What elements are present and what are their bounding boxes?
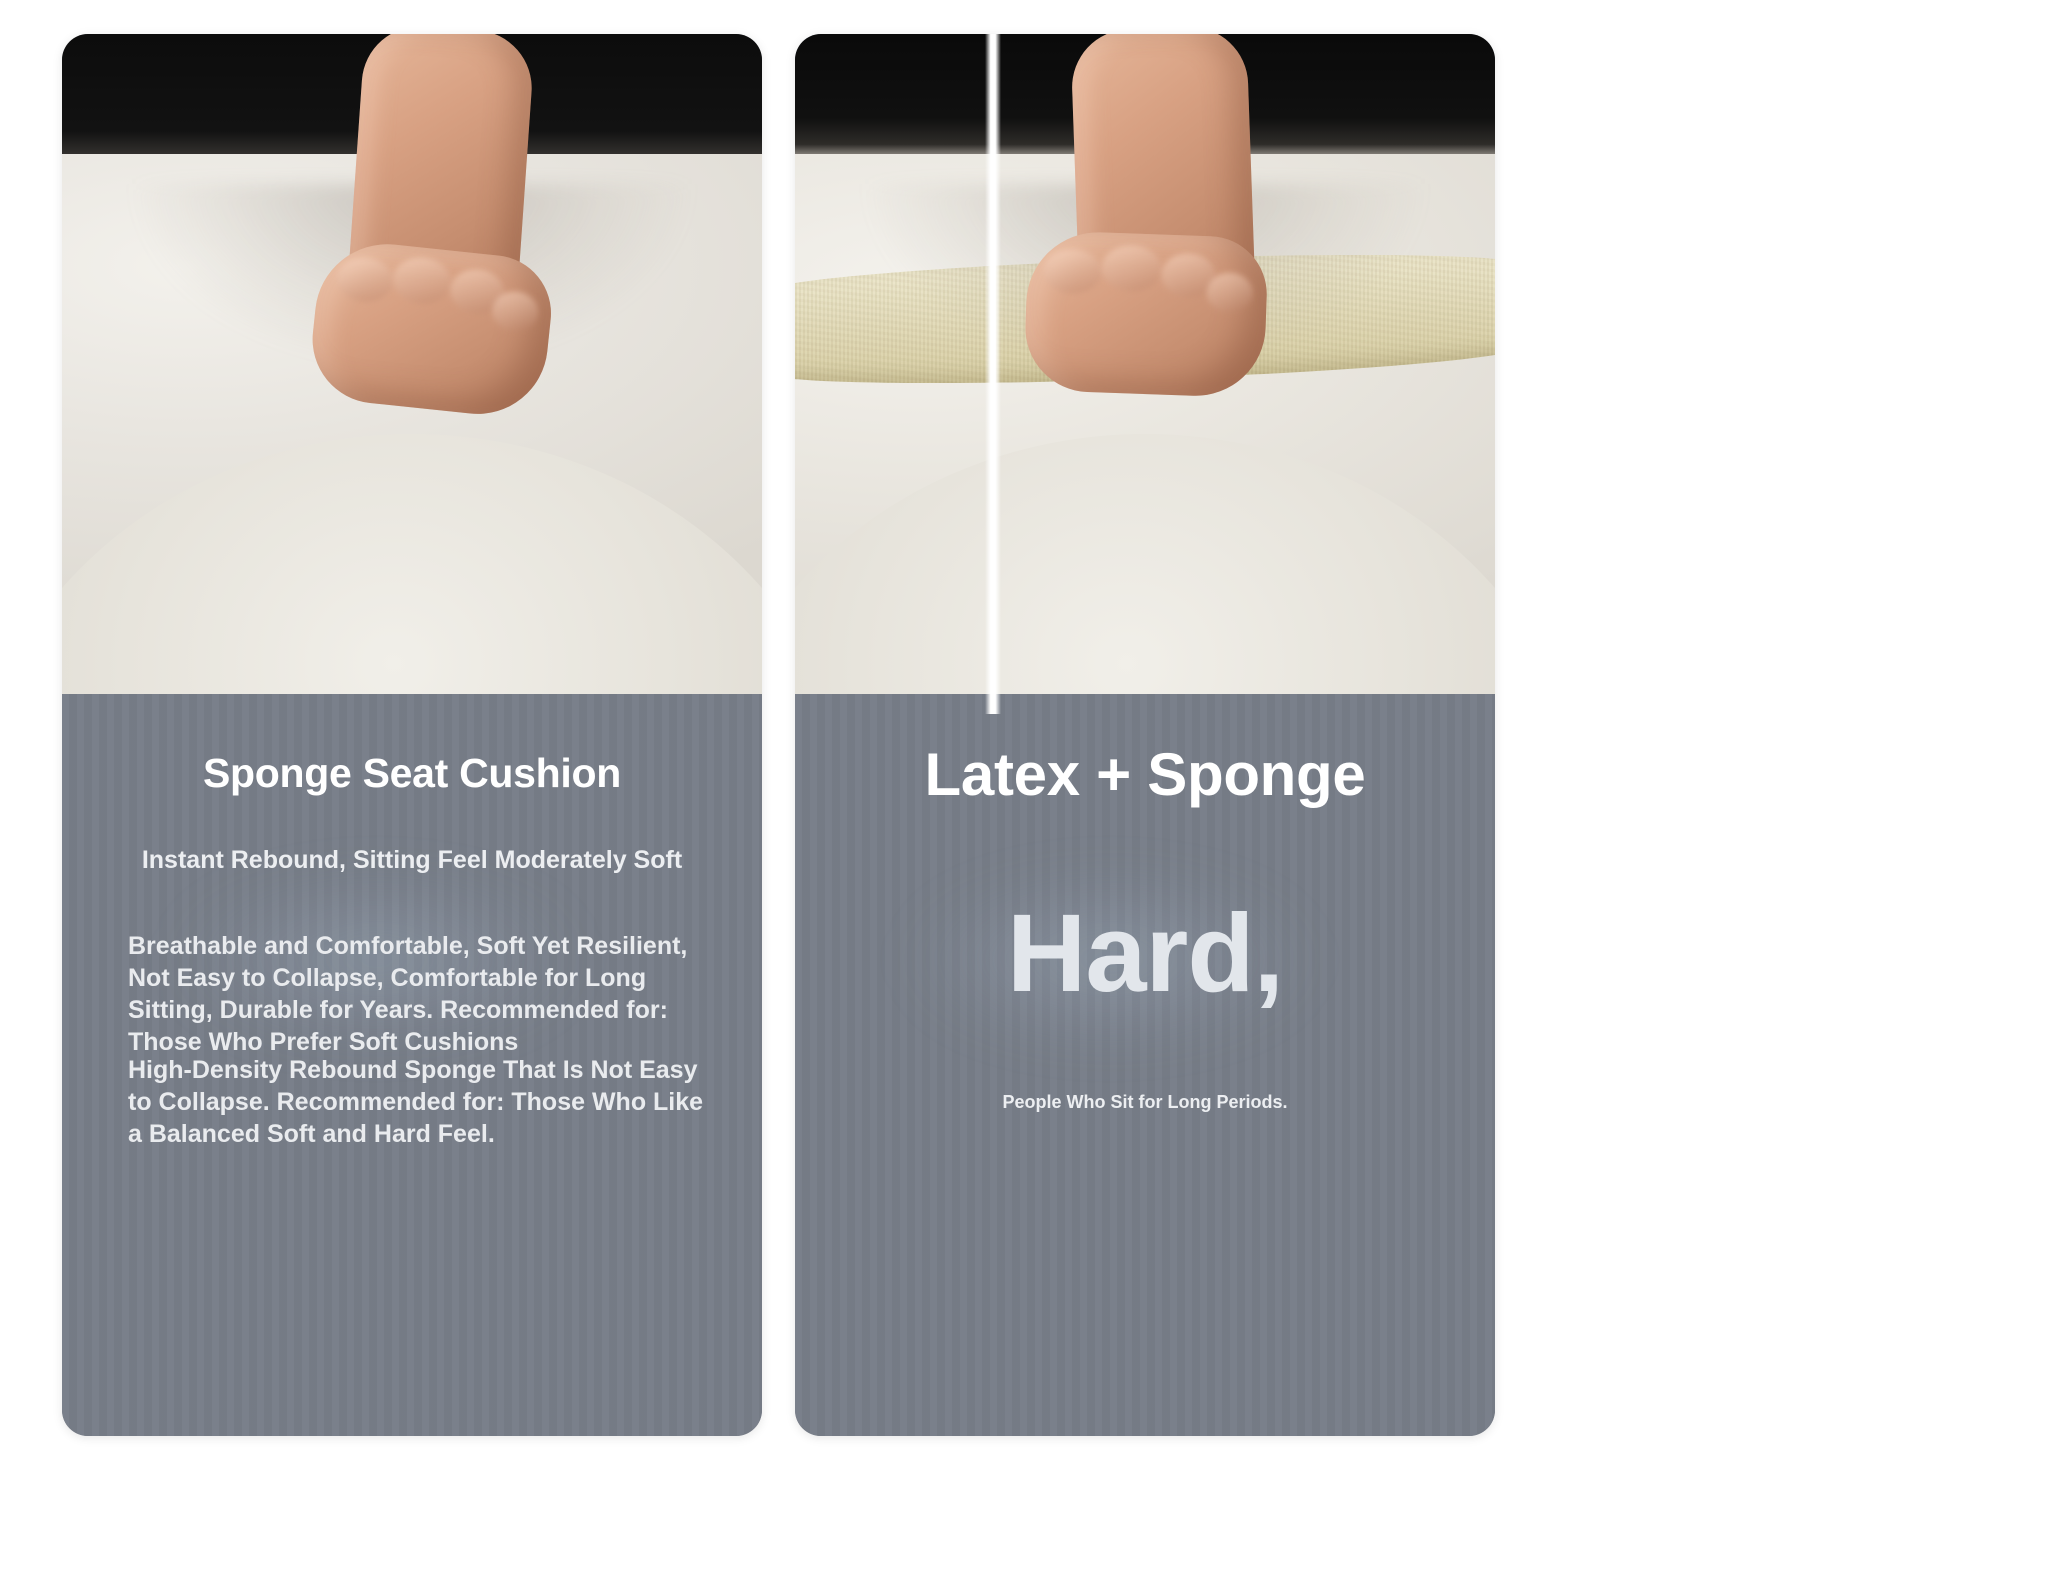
card-title: Latex + Sponge [795,740,1495,809]
product-photo-latex [795,34,1495,714]
knuckle-shape [391,255,453,307]
product-card-sponge-seat-cushion[interactable]: Sponge Seat Cushion Instant Rebound, Sit… [62,34,762,1436]
hand-fist-icon [1023,230,1268,398]
card-paragraph-1: Breathable and Comfortable, Soft Yet Res… [128,930,712,1058]
product-card-latex-plus-sponge[interactable]: Latex + Sponge Hard, People Who Sit for … [795,34,1495,1436]
knuckle-shape [1043,248,1103,294]
card-caption: People Who Sit for Long Periods. [795,1092,1495,1113]
card-emphasis-word: Hard, [795,890,1495,1017]
card-lede: Instant Rebound, Sitting Feel Moderately… [62,846,762,875]
card-text-panel: Latex + Sponge Hard, People Who Sit for … [795,694,1495,1436]
knuckle-shape [335,255,395,305]
knuckle-shape [1101,244,1163,292]
comparison-board: Sponge Seat Cushion Instant Rebound, Sit… [0,0,2048,1572]
hand-fist-icon [306,237,556,421]
card-paragraph-2: High-Density Rebound Sponge That Is Not … [128,1054,712,1150]
product-photo-sponge [62,34,762,714]
knuckle-shape [1206,272,1253,314]
card-text-panel: Sponge Seat Cushion Instant Rebound, Sit… [62,694,762,1436]
card-title: Sponge Seat Cushion [62,750,762,797]
